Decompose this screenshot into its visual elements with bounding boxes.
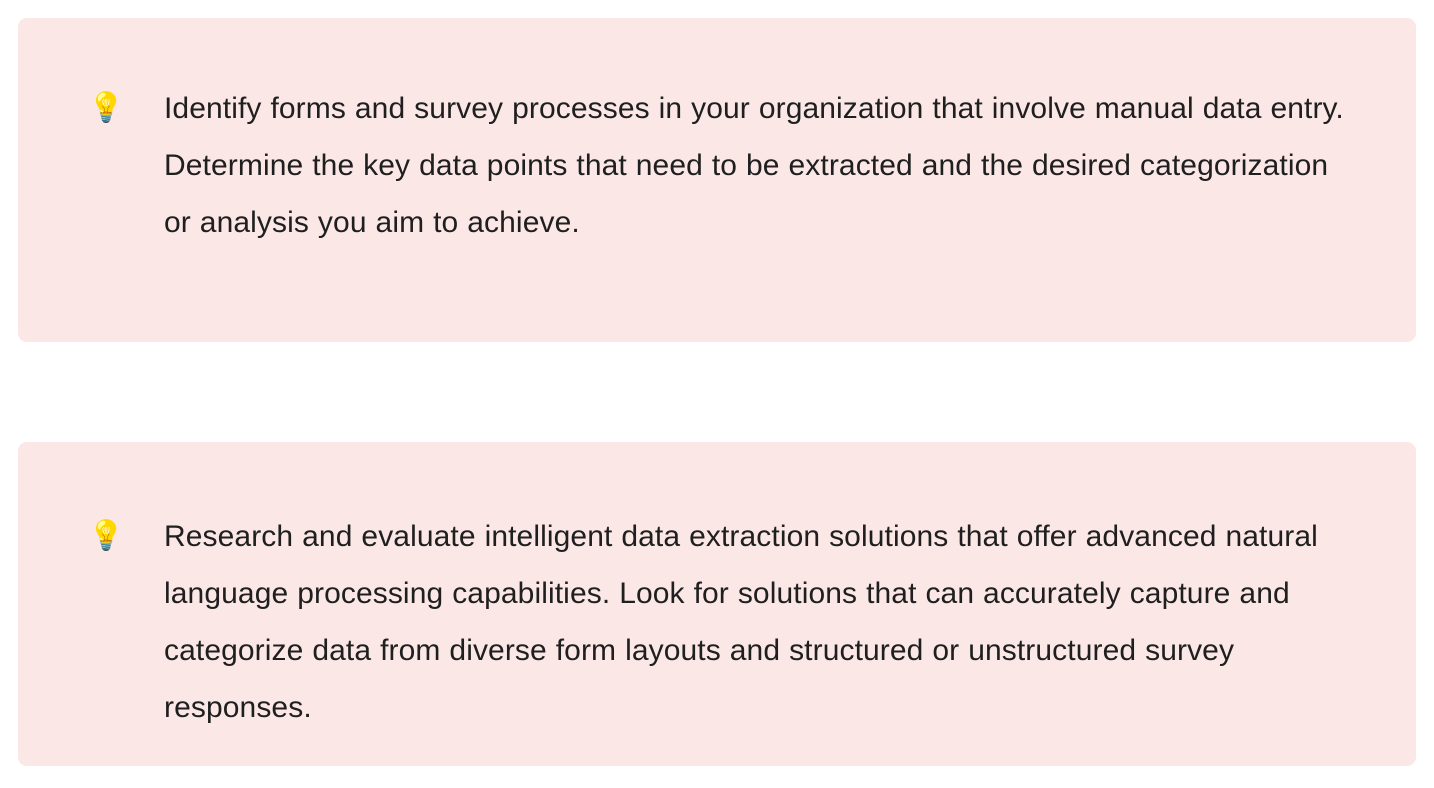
tip-text: Research and evaluate intelligent data e…	[164, 508, 1349, 736]
light-bulb-icon: 💡	[88, 80, 118, 137]
tip-card: 💡 Research and evaluate intelligent data…	[18, 442, 1416, 766]
light-bulb-icon: 💡	[88, 508, 118, 565]
tip-card: 💡 Identify forms and survey processes in…	[18, 18, 1416, 342]
tip-cards-page: 💡 Identify forms and survey processes in…	[0, 0, 1434, 788]
tip-text: Identify forms and survey processes in y…	[164, 80, 1349, 251]
